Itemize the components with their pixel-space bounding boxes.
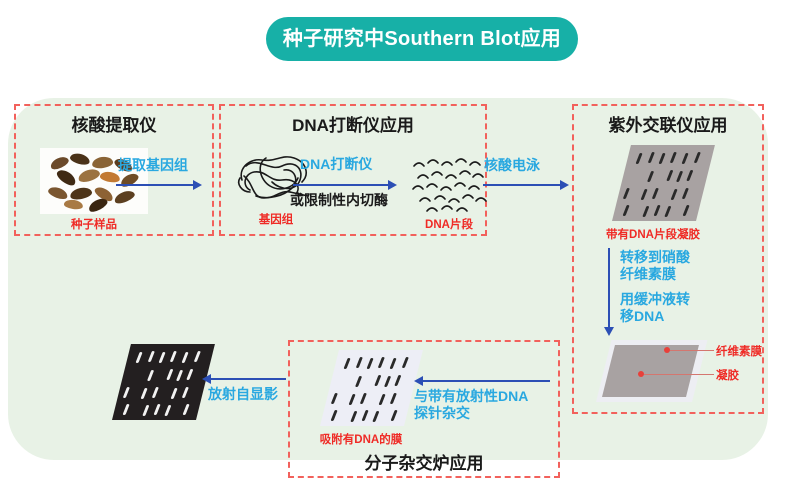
transfer-line-1: 转移到硝酸 bbox=[620, 249, 690, 266]
section-title-dna-shearing: DNA打断仪应用 bbox=[219, 111, 487, 136]
step-label-transfer-buffer: 用缓冲液转 移DNA bbox=[620, 291, 690, 325]
callout-line-gel bbox=[644, 374, 714, 375]
step-label-extract-genome: 提取基因组 bbox=[118, 157, 188, 174]
arrow-electrophoresis bbox=[483, 180, 569, 190]
hybridize-line-2: 探针杂交 bbox=[414, 405, 528, 422]
label-dna-fragments: DNA片段 bbox=[410, 216, 488, 232]
step-label-electrophoresis: 核酸电泳 bbox=[484, 157, 540, 174]
dna-fragments-icon bbox=[410, 156, 488, 214]
diagram-title-pill: 种子研究中Southern Blot应用 bbox=[266, 17, 578, 61]
label-cellulose-membrane: 纤维素膜 bbox=[716, 343, 768, 359]
transfer-line-4: 移DNA bbox=[620, 308, 690, 325]
callout-line-membrane bbox=[670, 350, 714, 351]
arrow-transfer-to-membrane bbox=[604, 248, 614, 336]
section-title-nucleic-acid-extractor: 核酸提取仪 bbox=[14, 111, 214, 136]
arrow-extract-genome bbox=[116, 180, 202, 190]
arrow-dna-shearing bbox=[293, 180, 397, 190]
gel-slab bbox=[602, 345, 699, 397]
transfer-line-3: 用缓冲液转 bbox=[620, 291, 690, 308]
step-label-autoradiography: 放射自显影 bbox=[208, 386, 278, 403]
section-title-uv-crosslinker: 紫外交联仪应用 bbox=[572, 111, 764, 136]
label-seed-sample: 种子样品 bbox=[40, 216, 148, 232]
page-title: 种子研究中Southern Blot应用 bbox=[283, 29, 561, 49]
arrow-hybridize-probe bbox=[414, 376, 550, 386]
step-label-dna-shearer: DNA打断仪 bbox=[300, 156, 372, 173]
step-label-transfer-membrane: 转移到硝酸 纤维素膜 bbox=[620, 249, 690, 283]
diagram-canvas: 种子研究中Southern Blot应用 核酸提取仪 种子样品 提取基因组 DN… bbox=[0, 0, 800, 504]
label-gel: 凝胶 bbox=[716, 367, 756, 383]
hybridize-line-1: 与带有放射性DNA bbox=[414, 388, 528, 405]
label-genome: 基因组 bbox=[236, 211, 316, 227]
step-label-hybridize-probe: 与带有放射性DNA 探针杂交 bbox=[414, 388, 528, 422]
label-gel-with-dna: 带有DNA片段凝胶 bbox=[588, 226, 718, 242]
step-label-restriction-enzyme: 或限制性内切酶 bbox=[290, 190, 388, 210]
section-title-hybridization-oven: 分子杂交炉应用 bbox=[288, 449, 560, 474]
arrow-autoradiography bbox=[202, 374, 286, 384]
transfer-line-2: 纤维素膜 bbox=[620, 266, 690, 283]
label-membrane-with-dna: 吸附有DNA的膜 bbox=[296, 431, 426, 447]
